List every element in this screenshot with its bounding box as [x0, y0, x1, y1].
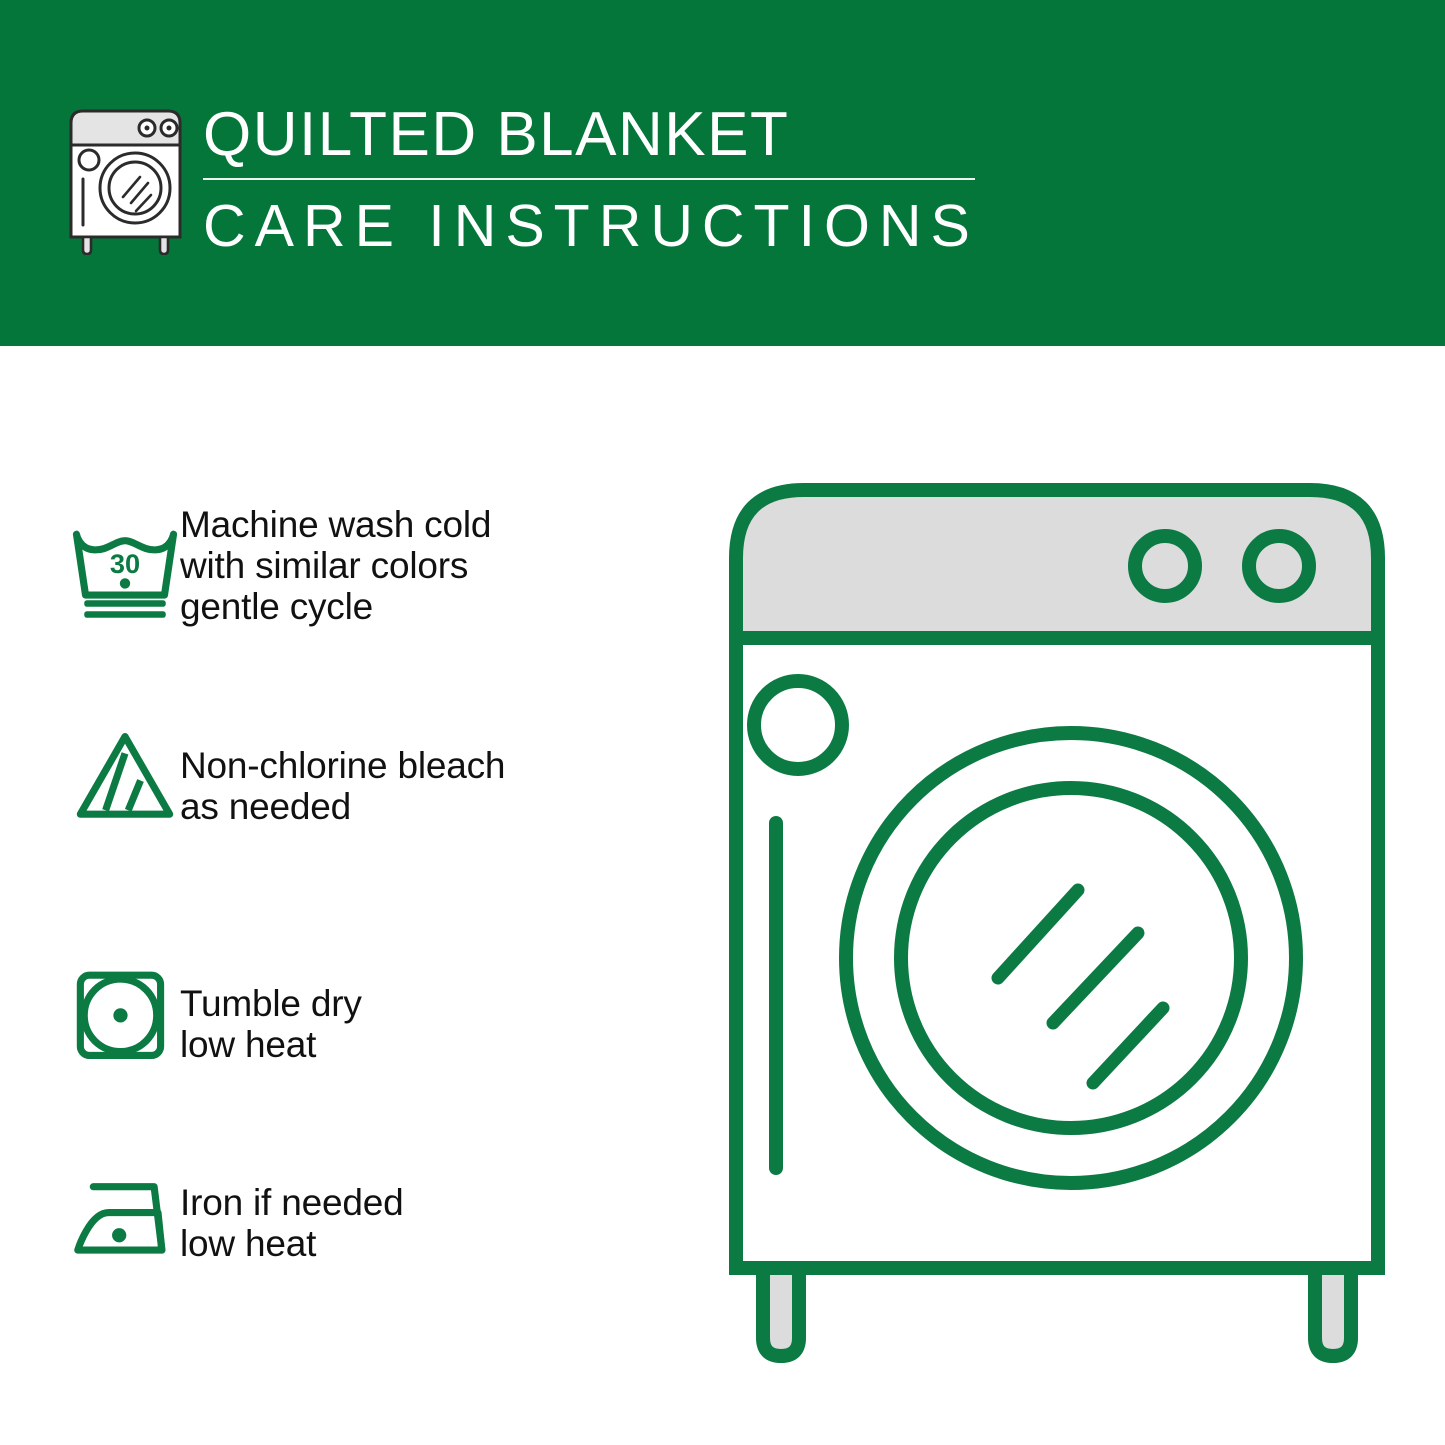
- care-instruction-text: Machine wash cold with similar colors ge…: [180, 500, 491, 627]
- iron-icon: [0, 1146, 180, 1296]
- care-instruction-item: Non-chlorine bleach as needed: [0, 701, 700, 851]
- header-divider: [203, 178, 975, 180]
- care-text-line: Machine wash cold: [180, 504, 491, 545]
- tumble-dry-icon: [0, 941, 180, 1091]
- care-text-line: low heat: [180, 1024, 362, 1065]
- header-text-block: QUILTED BLANKET CARE INSTRUCTIONS: [203, 100, 993, 259]
- washing-machine-icon: [63, 103, 188, 255]
- washing-machine-illustration: [718, 478, 1418, 1368]
- page-title: QUILTED BLANKET: [203, 100, 993, 170]
- care-text-line: gentle cycle: [180, 586, 491, 627]
- care-instruction-item: Tumble dry low heat: [0, 941, 700, 1091]
- wash-tub-30-icon: 30: [0, 500, 180, 650]
- care-text-line: with similar colors: [180, 545, 491, 586]
- wash-temperature-value: 30: [110, 548, 140, 579]
- care-text-line: Iron if needed: [180, 1182, 403, 1223]
- care-text-line: Non-chlorine bleach: [180, 745, 505, 786]
- header-band: QUILTED BLANKET CARE INSTRUCTIONS: [0, 0, 1445, 346]
- care-text-line: Tumble dry: [180, 983, 362, 1024]
- care-instruction-text: Non-chlorine bleach as needed: [180, 701, 505, 827]
- care-instruction-text: Iron if needed low heat: [180, 1146, 403, 1264]
- care-text-line: low heat: [180, 1223, 403, 1264]
- care-instruction-item: Iron if needed low heat: [0, 1146, 700, 1296]
- care-instruction-list: 30 Machine wash cold with similar colors…: [0, 346, 700, 1445]
- care-instruction-text: Tumble dry low heat: [180, 941, 362, 1065]
- page-subtitle: CARE INSTRUCTIONS: [203, 193, 993, 259]
- care-instruction-item: 30 Machine wash cold with similar colors…: [0, 500, 700, 650]
- care-instructions-page: QUILTED BLANKET CARE INSTRUCTIONS 30: [0, 0, 1445, 1445]
- bleach-triangle-icon: [0, 701, 180, 851]
- care-text-line: as needed: [180, 786, 505, 827]
